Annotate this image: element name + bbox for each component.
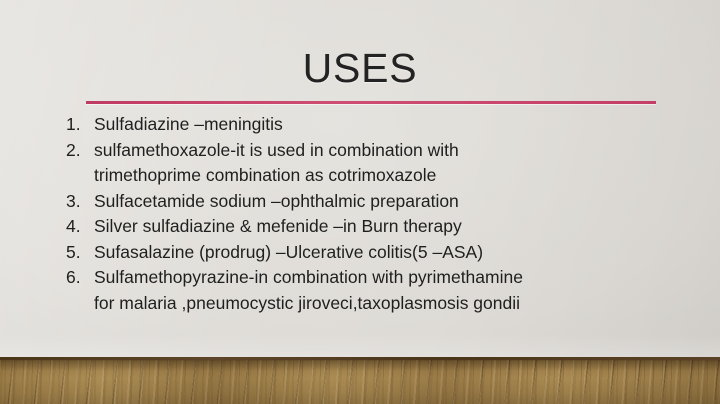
list-item-text: Sulfamethopyrazine-in combination with p… (94, 265, 666, 316)
list-item: 4. Silver sulfadiazine & mefenide –in Bu… (66, 214, 666, 240)
list-item-text: Silver sulfadiazine & mefenide –in Burn … (94, 214, 666, 240)
list-item-line: Sulfacetamide sodium –ophthalmic prepara… (94, 189, 666, 215)
list-item: 6. Sulfamethopyrazine-in combination wit… (66, 265, 666, 316)
list-item-number: 6. (66, 265, 94, 291)
list-item-line: trimethoprime combination as cotrimoxazo… (94, 163, 666, 189)
wooden-floor (0, 357, 720, 404)
list-item-text: Sulfacetamide sodium –ophthalmic prepara… (94, 189, 666, 215)
title-divider-rule (86, 101, 656, 104)
floor-top-edge (0, 357, 720, 360)
list-item-text: Sufasalazine (prodrug) –Ulcerative colit… (94, 240, 666, 266)
list-item-line: for malaria ,pneumocystic jiroveci,taxop… (94, 291, 666, 317)
list-item-line: sulfamethoxazole-it is used in combinati… (94, 138, 666, 164)
list-item-number: 4. (66, 214, 94, 240)
list-item: 2. sulfamethoxazole-it is used in combin… (66, 138, 666, 189)
uses-list: 1. Sulfadiazine –meningitis 2. sulfameth… (66, 112, 666, 316)
presentation-slide: USES 1. Sulfadiazine –meningitis 2. sulf… (0, 0, 720, 404)
list-item: 5. Sufasalazine (prodrug) –Ulcerative co… (66, 240, 666, 266)
list-item-number: 5. (66, 240, 94, 266)
list-item-text: Sulfadiazine –meningitis (94, 112, 666, 138)
list-item: 1. Sulfadiazine –meningitis (66, 112, 666, 138)
list-item-line: Sulfadiazine –meningitis (94, 112, 666, 138)
list-item: 3. Sulfacetamide sodium –ophthalmic prep… (66, 189, 666, 215)
list-item-number: 2. (66, 138, 94, 164)
list-item-number: 1. (66, 112, 94, 138)
list-item-text: sulfamethoxazole-it is used in combinati… (94, 138, 666, 189)
list-item-number: 3. (66, 189, 94, 215)
list-item-line: Sufasalazine (prodrug) –Ulcerative colit… (94, 240, 666, 266)
slide-title: USES (0, 44, 720, 92)
list-item-line: Sulfamethopyrazine-in combination with p… (94, 265, 666, 291)
list-item-line: Silver sulfadiazine & mefenide –in Burn … (94, 214, 666, 240)
